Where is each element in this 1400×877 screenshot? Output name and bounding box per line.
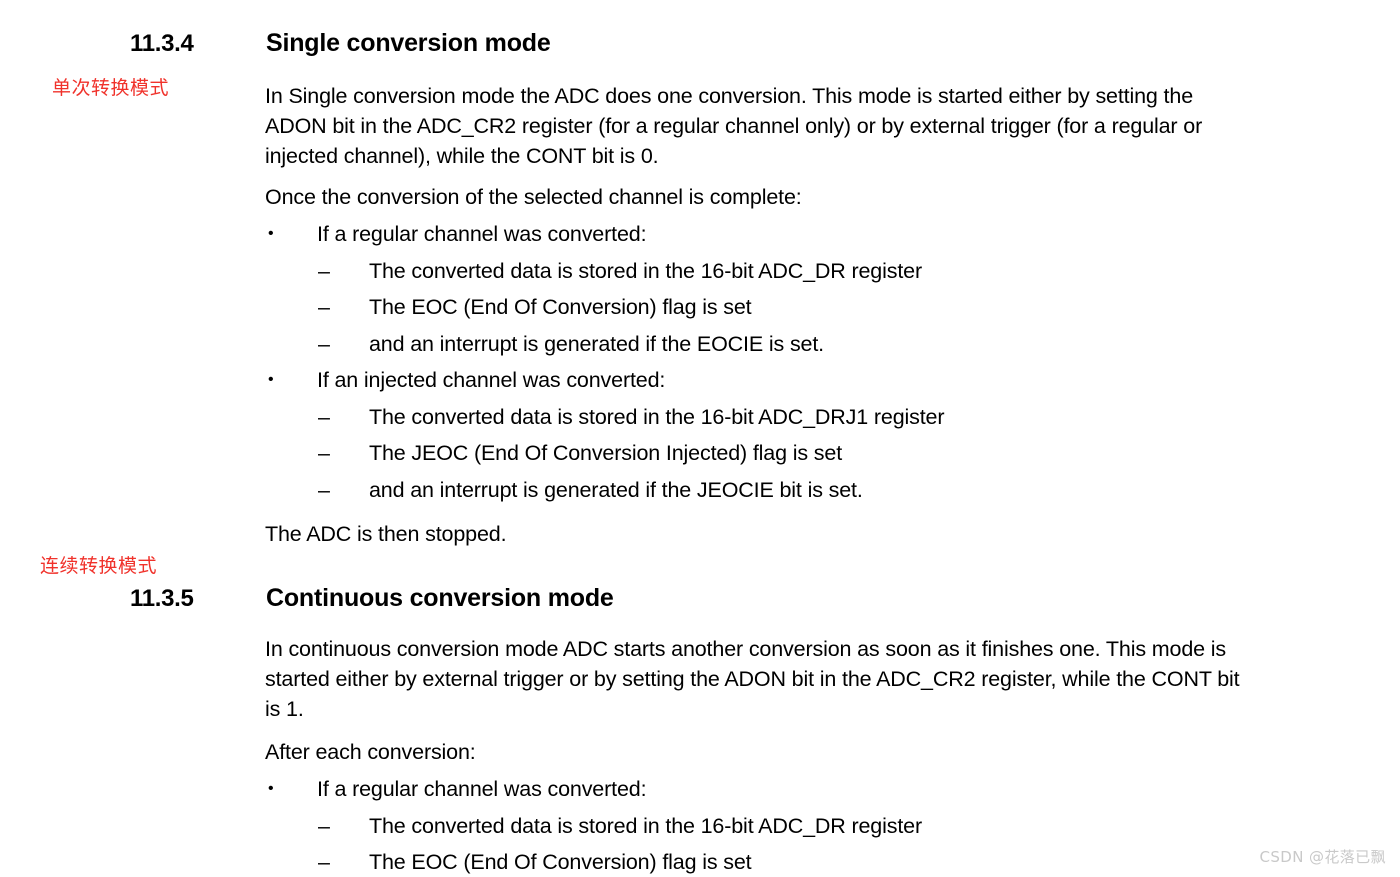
sub-list-item: – and an interrupt is generated if the E… (318, 329, 1178, 359)
paragraph-single-lead-in: Once the conversion of the selected chan… (265, 182, 1240, 212)
sub-list-item: – The EOC (End Of Conversion) flag is se… (318, 847, 1178, 877)
section-heading-11-3-5: 11.3.5 Continuous conversion mode (130, 584, 614, 613)
annotation-continuous-conversion-mode: 连续转换模式 (40, 554, 157, 578)
dash-icon: – (318, 847, 369, 877)
dash-icon: – (318, 329, 369, 359)
dash-icon: – (318, 402, 369, 432)
section-heading-11-3-4: 11.3.4 Single conversion mode (130, 29, 551, 58)
sub-list-item-label: The EOC (End Of Conversion) flag is set (369, 847, 752, 877)
section-number: 11.3.4 (130, 30, 266, 58)
list-item: • If an injected channel was converted: (265, 365, 1165, 395)
paragraph-single-closing: The ADC is then stopped. (265, 519, 1240, 549)
paragraph-single-intro: In Single conversion mode the ADC does o… (265, 81, 1240, 171)
sub-list-item-label: and an interrupt is generated if the JEO… (369, 475, 863, 505)
sub-list-item: – The EOC (End Of Conversion) flag is se… (318, 292, 1178, 322)
sub-list-item-label: The converted data is stored in the 16-b… (369, 811, 922, 841)
sub-list-item-label: The converted data is stored in the 16-b… (369, 256, 922, 286)
sub-list-item: – and an interrupt is generated if the J… (318, 475, 1178, 505)
dash-icon: – (318, 475, 369, 505)
section-title: Continuous conversion mode (266, 584, 614, 613)
list-item-label: If a regular channel was converted: (317, 774, 646, 804)
section-number: 11.3.5 (130, 585, 266, 613)
sub-list-item-label: The converted data is stored in the 16-b… (369, 402, 944, 432)
sub-list-item-label: The JEOC (End Of Conversion Injected) fl… (369, 438, 842, 468)
dash-icon: – (318, 811, 369, 841)
list-item: • If a regular channel was converted: (265, 774, 1165, 804)
dash-icon: – (318, 256, 369, 286)
sub-list-item-label: and an interrupt is generated if the EOC… (369, 329, 824, 359)
bullet-dot-icon: • (265, 774, 317, 804)
section-title: Single conversion mode (266, 29, 551, 58)
document-page: 单次转换模式 11.3.4 Single conversion mode In … (0, 0, 1400, 877)
paragraph-continuous-lead-in: After each conversion: (265, 737, 1240, 767)
list-item-label: If a regular channel was converted: (317, 219, 646, 249)
bullet-dot-icon: • (265, 219, 317, 249)
sub-list-item: – The converted data is stored in the 16… (318, 811, 1178, 841)
csdn-watermark: CSDN @花落已飘 (1259, 846, 1386, 867)
dash-icon: – (318, 292, 369, 322)
sub-list-item: – The converted data is stored in the 16… (318, 256, 1178, 286)
bullet-dot-icon: • (265, 365, 317, 395)
annotation-single-conversion-mode: 单次转换模式 (52, 76, 169, 100)
list-item-label: If an injected channel was converted: (317, 365, 665, 395)
dash-icon: – (318, 438, 369, 468)
sub-list-item: – The converted data is stored in the 16… (318, 402, 1178, 432)
sub-list-item: – The JEOC (End Of Conversion Injected) … (318, 438, 1178, 468)
paragraph-continuous-intro: In continuous conversion mode ADC starts… (265, 634, 1250, 724)
sub-list-item-label: The EOC (End Of Conversion) flag is set (369, 292, 752, 322)
list-item: • If a regular channel was converted: (265, 219, 1165, 249)
